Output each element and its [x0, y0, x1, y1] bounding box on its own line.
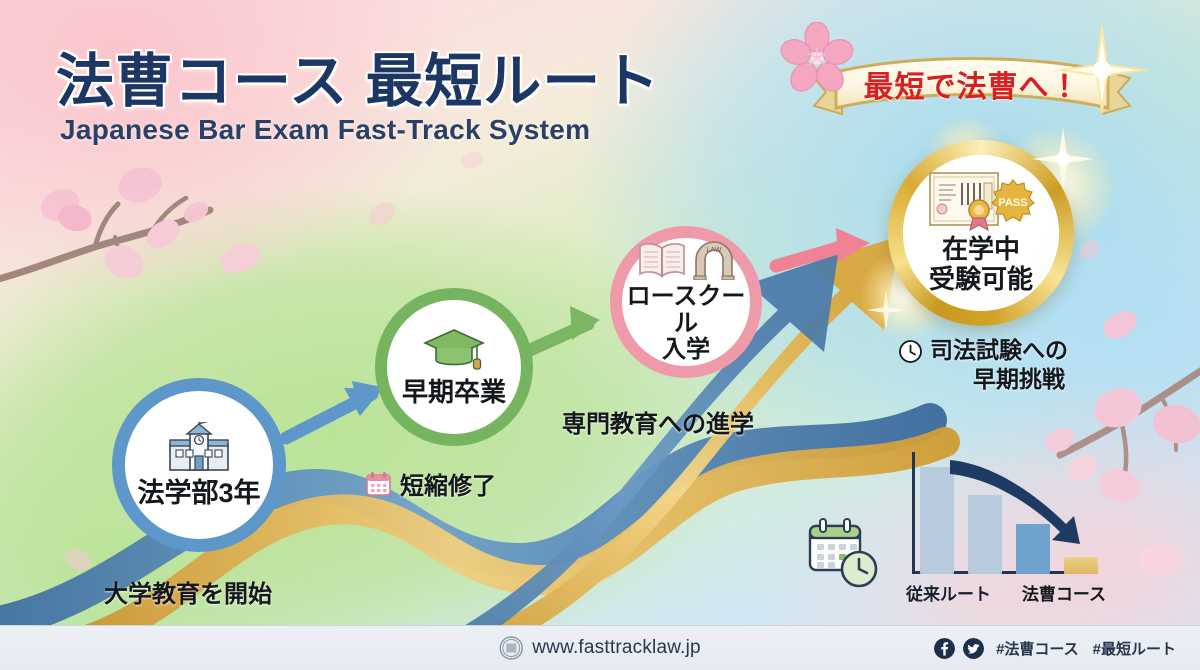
- cherry-blossom-icon: [780, 22, 854, 96]
- step-3-title-line2: 入学: [622, 337, 750, 364]
- step-2-caption-text: 短縮修了: [400, 466, 496, 501]
- calendar-clock-icon: [806, 516, 880, 590]
- step-2-caption: 短縮修了: [365, 466, 496, 501]
- chart-label-legacy: 従来ルート: [906, 580, 991, 605]
- chart-label-fasttrack: 法曹コース: [1022, 580, 1106, 605]
- step-3-title: ロースクール 入学: [622, 284, 750, 365]
- seal-logo-icon: [499, 636, 523, 660]
- down-trend-arrow-icon: [898, 448, 1104, 578]
- step-4-title-line2: 受験可能: [929, 265, 1033, 295]
- highlight-banner: 最短で法曹へ！: [812, 52, 1132, 130]
- step-4-caption-line2: 早期挑戦: [898, 365, 1128, 394]
- comparison-bar-chart: 従来ルート 法曹コース: [898, 452, 1104, 612]
- footer-website-text: www.fasttracklaw.jp: [532, 637, 701, 659]
- footer-hashtags: #法曹コース #最短ルート: [996, 638, 1176, 659]
- svg-text:PASS: PASS: [998, 197, 1027, 209]
- step-4-caption-line1: 司法試験への: [930, 336, 1068, 365]
- hashtag-1[interactable]: #法曹コース: [996, 638, 1079, 659]
- pass-seal-icon: PASS: [990, 179, 1036, 225]
- step-3-circle[interactable]: LAW ロースクール 入学: [610, 226, 762, 378]
- step-4-circle[interactable]: PASS 在学中 受験可能: [903, 155, 1059, 311]
- step-3-caption: 専門教育への進学: [562, 404, 754, 439]
- hashtag-2[interactable]: #最短ルート: [1093, 638, 1176, 659]
- page-subtitle: Japanese Bar Exam Fast-Track System: [60, 114, 590, 146]
- step-1-caption: 大学教育を開始: [104, 574, 272, 609]
- twitter-icon[interactable]: [963, 638, 984, 659]
- sparkle-icon: [1048, 16, 1156, 124]
- infographic-canvas: 法曹コース 最短ルート Japanese Bar Exam Fast-Track…: [0, 0, 1200, 670]
- chart-category-labels: 従来ルート 法曹コース: [906, 580, 1106, 605]
- calendar-icon: [365, 470, 392, 497]
- footer-social: #法曹コース #最短ルート: [934, 638, 1176, 659]
- footer-bar: www.fasttracklaw.jp #法曹コース #最短ルート: [0, 625, 1200, 670]
- page-title: 法曹コース 最短ルート: [56, 34, 660, 118]
- footer-website[interactable]: www.fasttracklaw.jp: [499, 636, 701, 660]
- step-4-caption: 司法試験への 早期挑戦: [898, 336, 1128, 394]
- graduation-cap-icon: [423, 326, 485, 374]
- step-1-title: 法学部3年: [137, 478, 260, 508]
- step-2-title: 早期卒業: [402, 378, 506, 407]
- school-building-icon: [168, 422, 230, 474]
- facebook-icon[interactable]: [934, 638, 955, 659]
- law-arch-icon: LAW: [693, 240, 735, 280]
- step-2-circle[interactable]: 早期卒業: [375, 288, 533, 446]
- step-4-title-line1: 在学中: [929, 235, 1033, 265]
- clock-icon: [898, 339, 923, 364]
- step-4-title: 在学中 受験可能: [929, 235, 1033, 295]
- open-book-icon: [637, 240, 687, 280]
- svg-text:LAW: LAW: [707, 247, 722, 254]
- step-3-title-line1: ロースクール: [622, 284, 750, 338]
- step-1-circle[interactable]: 法学部3年: [112, 378, 286, 552]
